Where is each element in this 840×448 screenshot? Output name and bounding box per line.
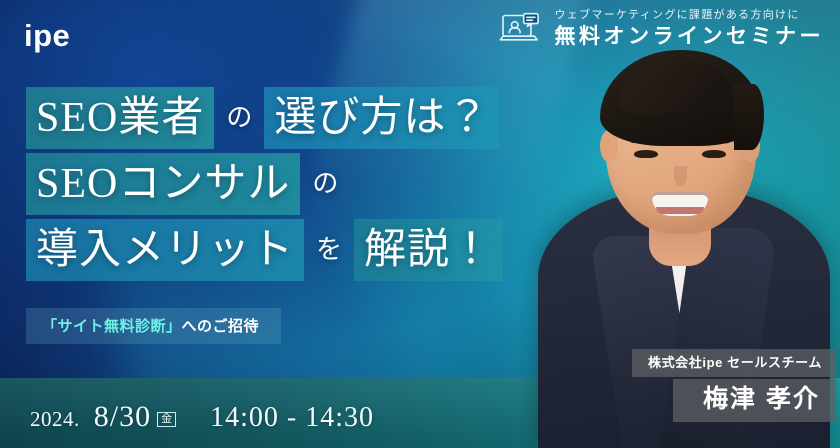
portrait-eye-left bbox=[634, 150, 658, 158]
free-diagnosis-badge: 「サイト無料診断」へのご招待 bbox=[26, 308, 281, 344]
seminar-subtitle: ウェブマーケティングに課題がある方向けに bbox=[555, 8, 825, 23]
portrait-nose bbox=[674, 166, 687, 186]
portrait-eye-right bbox=[702, 150, 726, 158]
headline-chunk: 解説！ bbox=[354, 219, 503, 281]
speaker-name: 梅津 孝介 bbox=[673, 379, 836, 422]
schedule-year: 2024. bbox=[30, 407, 80, 432]
speaker-info: 株式会社ipe セールスチーム 梅津 孝介 bbox=[632, 349, 836, 422]
headline-chunk: SEO業者 bbox=[26, 87, 214, 149]
seminar-header: ウェブマーケティングに課題がある方向けに 無料オンラインセミナー bbox=[499, 8, 825, 50]
badge-plain-text: へのご招待 bbox=[182, 319, 260, 335]
portrait-mouth bbox=[652, 192, 708, 216]
schedule: 2024. 8/30 金 14:00 - 14:30 bbox=[30, 400, 374, 434]
seminar-banner: ipe ウェブマーケティングに課題がある方向けに 無料オンラインセミナー SEO… bbox=[0, 0, 840, 448]
headline-chunk: 導入メリット bbox=[26, 219, 304, 281]
schedule-time: 14:00 - 14:30 bbox=[210, 402, 374, 434]
headline-chunk: の bbox=[300, 153, 350, 215]
headline-line-3: 導入メリット を 解説！ bbox=[26, 218, 526, 282]
main-headline: SEO業者 の 選び方は？ SEOコンサル の 導入メリット を 解説！ bbox=[26, 86, 526, 282]
online-seminar-laptop-icon bbox=[499, 11, 543, 47]
headline-chunk: を bbox=[304, 219, 354, 281]
seminar-title: 無料オンラインセミナー bbox=[555, 25, 825, 49]
headline-chunk: の bbox=[214, 87, 264, 149]
headline-line-1: SEO業者 の 選び方は？ bbox=[26, 86, 526, 150]
speaker-organization: 株式会社ipe セールスチーム bbox=[632, 349, 836, 377]
ipe-logo[interactable]: ipe bbox=[24, 20, 70, 51]
schedule-day-of-week: 金 bbox=[157, 412, 176, 427]
headline-chunk: 選び方は？ bbox=[264, 87, 499, 149]
badge-accent-text: 「サイト無料診断」 bbox=[42, 319, 182, 335]
headline-chunk: SEOコンサル bbox=[26, 153, 300, 215]
schedule-month-day: 8/30 bbox=[94, 400, 151, 434]
headline-line-2: SEOコンサル の bbox=[26, 152, 526, 216]
